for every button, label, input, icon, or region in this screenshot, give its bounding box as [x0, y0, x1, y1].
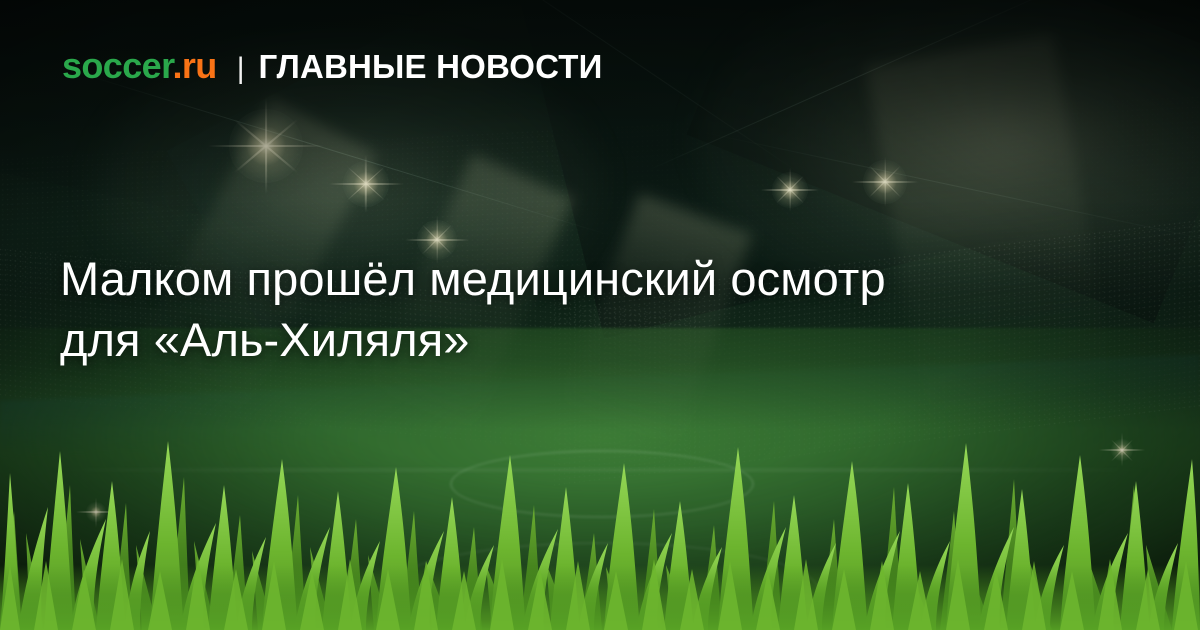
header-separator: |: [237, 54, 245, 84]
logo-suffix-text: .ru: [173, 45, 217, 86]
headline-line-2: для «Аль-Хиляля»: [60, 309, 1150, 370]
logo-primary-text: soccer: [62, 45, 173, 86]
headline-line-1: Малком прошёл медицинский осмотр: [60, 248, 1150, 309]
header-kicker-label: ГЛАВНЫЕ НОВОСТИ: [259, 50, 603, 83]
site-logo[interactable]: soccer.ru: [62, 48, 217, 84]
header-bar: soccer.ru | ГЛАВНЫЕ НОВОСТИ: [62, 48, 603, 84]
page-title: Малком прошёл медицинский осмотр для «Ал…: [60, 248, 1150, 370]
news-share-card: soccer.ru | ГЛАВНЫЕ НОВОСТИ Малком прошё…: [0, 0, 1200, 630]
